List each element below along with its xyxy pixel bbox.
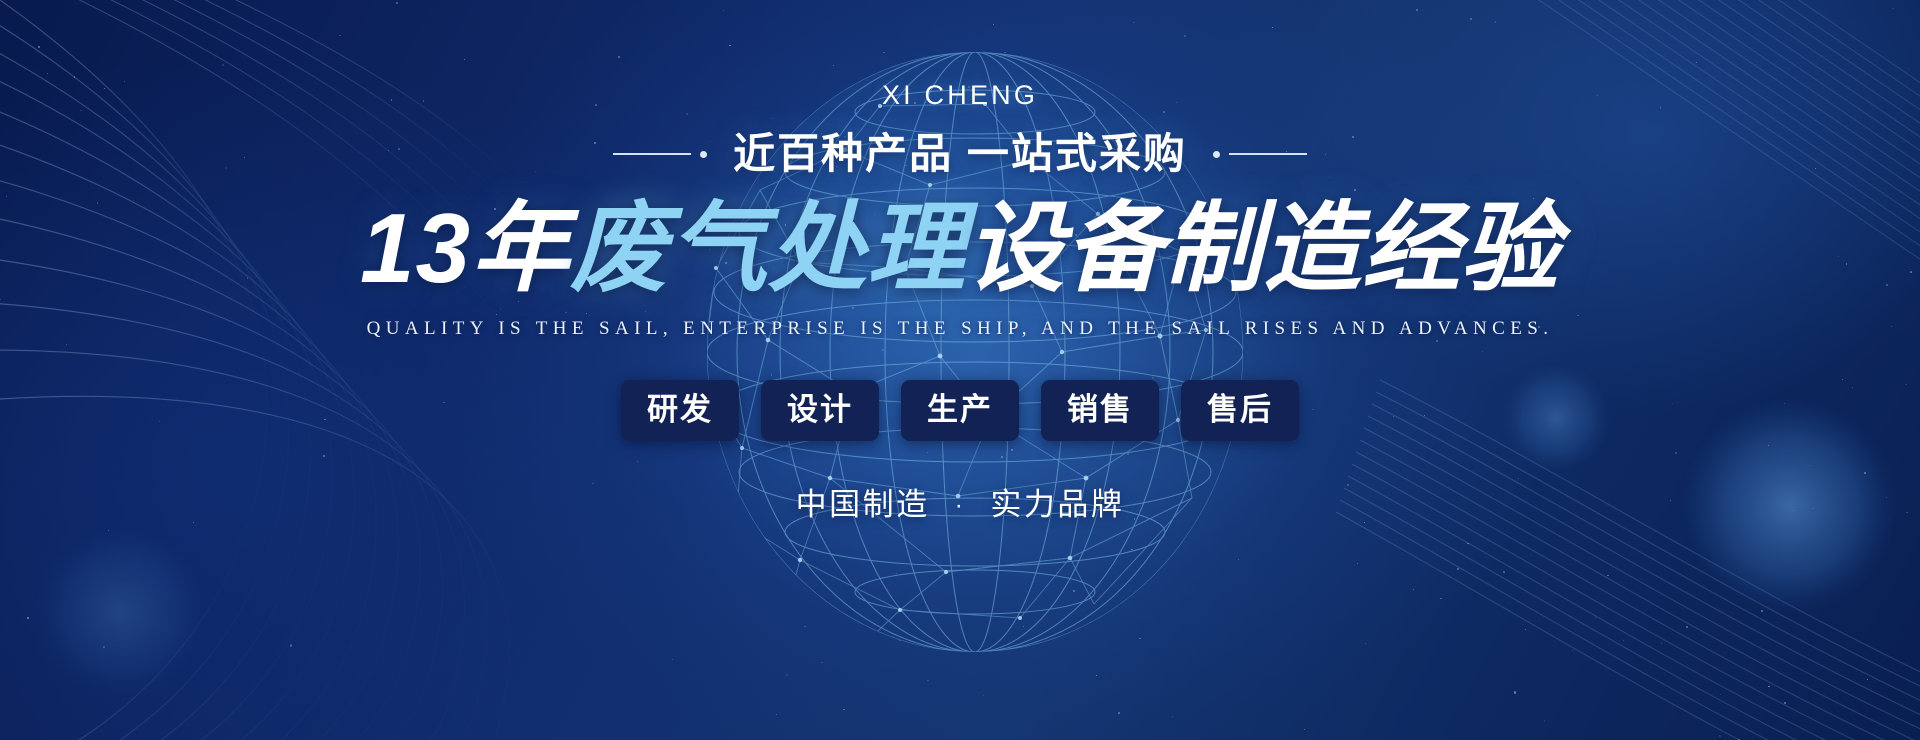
ornament-bar-right: [1229, 153, 1307, 155]
tagline-en: QUALITY IS THE SAIL, ENTERPRISE IS THE S…: [367, 319, 1554, 338]
subtitle-row: 近百种产品 一站式采购: [613, 133, 1307, 175]
footer-slogan: 中国制造 · 实力品牌: [796, 489, 1125, 520]
service-pill-yanfa[interactable]: 研发: [621, 380, 739, 441]
service-pill-xiaoshou[interactable]: 销售: [1041, 380, 1159, 441]
ornament-right: [1213, 151, 1307, 158]
banner-content: XI CHENG 近百种产品 一站式采购 13年废气处理设备制造经验 QUALI…: [0, 0, 1920, 740]
service-pill-shouhou[interactable]: 售后: [1181, 380, 1299, 441]
brand-name-en: XI CHENG: [882, 82, 1038, 109]
headline-accent: 废气处理: [570, 193, 966, 303]
footer-separator: ·: [941, 492, 980, 519]
ornament-dot-right: [1213, 151, 1220, 158]
headline-part2: 设备制造经验: [966, 193, 1560, 303]
footer-slogan-left: 中国制造: [796, 487, 930, 522]
service-pill-list: 研发 设计 生产 销售 售后: [621, 380, 1299, 441]
service-pill-sheji[interactable]: 设计: [761, 380, 879, 441]
headline: 13年废气处理设备制造经验: [360, 197, 1560, 301]
hero-banner: XI CHENG 近百种产品 一站式采购 13年废气处理设备制造经验 QUALI…: [0, 0, 1920, 740]
ornament-bar-left: [613, 153, 691, 155]
headline-part1: 13年: [360, 193, 570, 303]
ornament-dot-left: [700, 151, 707, 158]
service-pill-shengchan[interactable]: 生产: [901, 380, 1019, 441]
footer-slogan-right: 实力品牌: [990, 487, 1124, 522]
subtitle-text: 近百种产品 一站式采购: [733, 133, 1187, 175]
ornament-left: [613, 151, 707, 158]
